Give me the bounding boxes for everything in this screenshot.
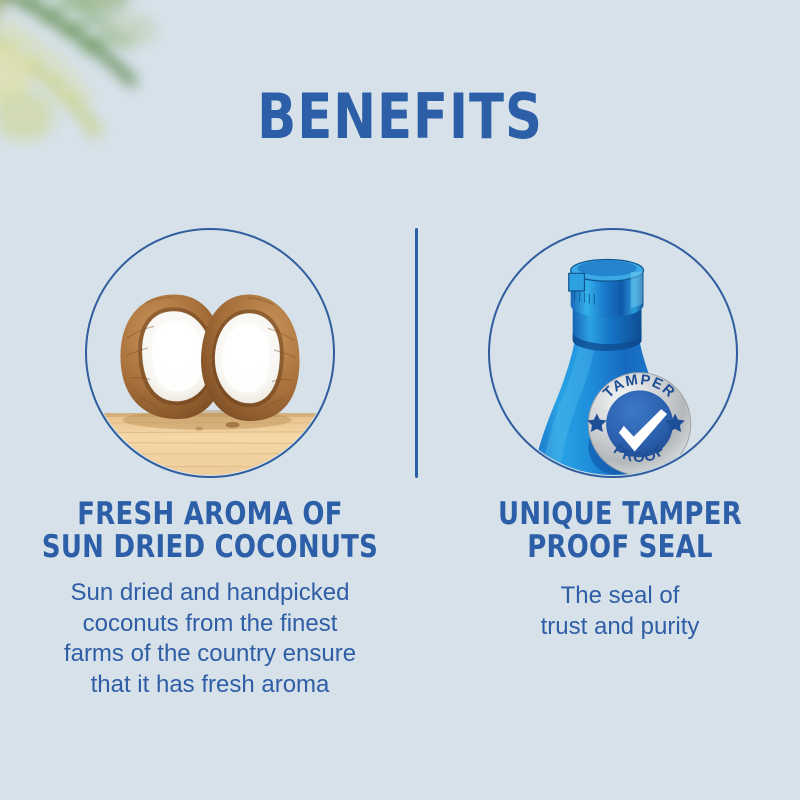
page-title: BENEFITS bbox=[32, 86, 768, 148]
benefit-body-fresh-aroma: Sun dried and handpicked coconuts from t… bbox=[20, 578, 400, 701]
benefit-heading-fresh-aroma: FRESH AROMA OF SUN DRIED COCONUTS bbox=[33, 498, 386, 565]
column-divider bbox=[415, 228, 418, 478]
benefit-column-fresh-aroma: FRESH AROMA OF SUN DRIED COCONUTS Sun dr… bbox=[20, 498, 400, 701]
benefit-column-tamper-proof: UNIQUE TAMPER PROOF SEAL The seal of tru… bbox=[430, 498, 800, 642]
benefit-heading-tamper-proof: UNIQUE TAMPER PROOF SEAL bbox=[443, 498, 796, 565]
benefit-body-tamper-proof: The seal of trust and purity bbox=[430, 581, 800, 642]
coconut-image-circle bbox=[85, 228, 335, 478]
tamper-proof-bottle-image-circle: TAMPER PROOF bbox=[488, 228, 738, 478]
benefits-infographic: BENEFITS bbox=[0, 0, 800, 800]
